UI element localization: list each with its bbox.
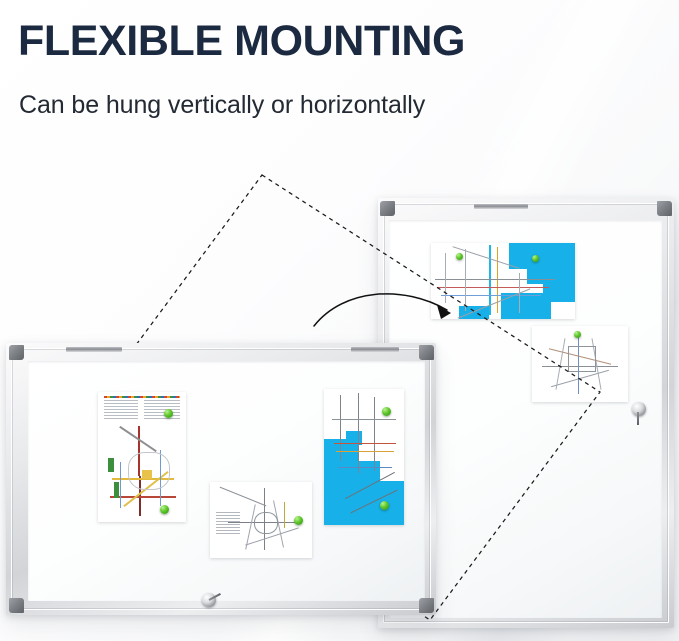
product-feature-banner: FLEXIBLE MOUNTING Can be hung vertically… (0, 0, 679, 641)
magnet (160, 505, 169, 514)
corner-cap-top-left (9, 345, 24, 360)
magnet (380, 501, 389, 510)
horizontal-board-lock[interactable] (202, 593, 218, 609)
corner-cap-top-right (657, 201, 672, 216)
horizontal-board (6, 343, 436, 615)
corner-cap-bottom-left (9, 598, 24, 613)
magnet (294, 516, 303, 525)
magnet (382, 407, 391, 416)
corner-cap-top-right (419, 345, 434, 360)
magnet (164, 409, 173, 418)
poster-regional-pale (210, 482, 312, 558)
poster-bay-blue (431, 243, 575, 319)
lock-key (637, 412, 639, 425)
page-title: FLEXIBLE MOUNTING (18, 19, 465, 64)
horizontal-board-hinge-right (351, 347, 399, 352)
page-subtitle: Can be hung vertically or horizontally (19, 92, 425, 120)
vertical-board-lock[interactable] (632, 402, 648, 418)
poster-radial-pale (532, 326, 628, 402)
magnet (574, 331, 581, 338)
poster-metro-multicolour (98, 392, 186, 522)
lock-barrel (632, 402, 646, 416)
corner-cap-bottom-right (419, 598, 434, 613)
horizontal-board-hinge (66, 347, 122, 352)
vertical-board-hinge (474, 204, 528, 209)
magnet (532, 255, 539, 262)
poster-coastal-blue (324, 389, 404, 525)
corner-cap-top-left (380, 201, 395, 216)
magnet (456, 253, 463, 260)
